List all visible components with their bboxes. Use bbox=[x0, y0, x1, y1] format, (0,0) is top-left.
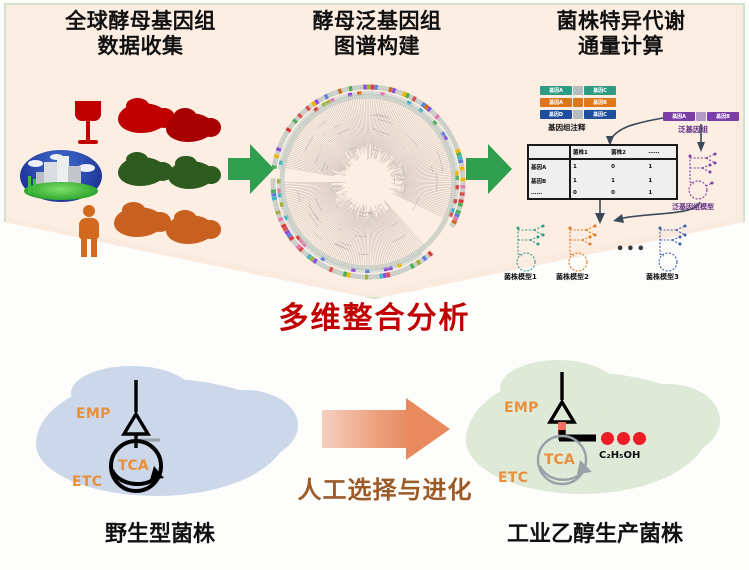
tree-svg bbox=[268, 82, 468, 282]
matrix-col-2: 菌株2 bbox=[609, 146, 646, 159]
wild-type-strain-label: 野生型菌株 bbox=[20, 516, 300, 548]
strain-model-3-label: 菌株模型3 bbox=[646, 272, 679, 282]
wildtype-emp-label: EMP bbox=[76, 406, 111, 422]
matrix-row1-gene: 基因B bbox=[529, 174, 570, 188]
industrial-tca-label: TCA bbox=[544, 452, 575, 468]
matrix-row1-v1: 1 bbox=[609, 174, 646, 188]
ethanol-molecule-3 bbox=[633, 432, 646, 445]
table-row: 基因A 1 0 1 bbox=[529, 159, 676, 174]
wildtype-etc-label: ETC bbox=[72, 474, 102, 490]
industrial-ethanol-cell: C₂H₅OH EMP TCA ETC bbox=[466, 372, 710, 494]
figure-canvas: 全球酵母基因组 数据收集 酵母泛基因组 图谱构建 菌株特异代谢 通量计算 bbox=[0, 0, 749, 570]
wildtype-tca-label: TCA bbox=[118, 458, 149, 474]
yeast-blob-human-1 bbox=[114, 207, 164, 237]
selection-evolution-arrow-icon bbox=[322, 398, 454, 460]
circular-phylogenetic-tree bbox=[268, 82, 468, 282]
matrix-row2-gene: …… bbox=[529, 188, 570, 198]
matrix-row0-v2: 1 bbox=[646, 159, 676, 174]
yeast-blob-human-2 bbox=[166, 215, 214, 244]
matrix-row0-v1: 0 bbox=[609, 159, 646, 174]
globe-factory-icon bbox=[20, 150, 102, 202]
industrial-emp-label: EMP bbox=[504, 400, 539, 416]
matrix-row2-v1: 0 bbox=[609, 188, 646, 198]
strain3-network-svg bbox=[652, 224, 694, 272]
matrix-col-1: 菌株1 bbox=[570, 146, 609, 159]
matrix-row2-v2: 1 bbox=[646, 188, 676, 198]
matrix-row0-v0: 1 bbox=[570, 159, 609, 174]
industrial-etc-label: ETC bbox=[498, 470, 528, 486]
ethanol-molecule-1 bbox=[601, 432, 614, 445]
table-row: …… 0 0 1 bbox=[529, 188, 676, 198]
strain1-network-svg bbox=[510, 224, 552, 272]
matrix-row1-v0: 1 bbox=[570, 174, 609, 188]
yeast-source-cluster bbox=[18, 95, 228, 265]
strain-model-2-network bbox=[562, 224, 604, 270]
yeast-blob-wine-2 bbox=[166, 113, 214, 142]
center-title: 多维整合分析 bbox=[0, 293, 749, 337]
yeast-blob-env-2 bbox=[168, 161, 214, 189]
matrix-col-3: …… bbox=[646, 146, 676, 159]
wild-type-cell: EMP TCA ETC bbox=[36, 378, 288, 496]
flux-pipeline: 基因A 基因C 基因A 基因B 基因D 基因C 基因组注释 基因A 基因B 泛基… bbox=[500, 84, 749, 284]
strain-model-3-network bbox=[652, 224, 694, 270]
ethanol-molecule-2 bbox=[617, 432, 630, 445]
matrix-row1-v2: 1 bbox=[646, 174, 676, 188]
pangenome-model-network bbox=[682, 152, 724, 198]
yeast-blob-env-1 bbox=[118, 157, 166, 186]
ethanol-formula-label: C₂H₅OH bbox=[599, 450, 640, 461]
pangenome-network-svg bbox=[682, 152, 724, 200]
person-icon bbox=[77, 205, 101, 257]
gene-presence-matrix: 菌株1 菌株2 …… 基因A 1 0 1 基因B 1 1 bbox=[527, 144, 678, 200]
heading-pangenome-map: 酵母泛基因组 图谱构建 bbox=[262, 9, 492, 59]
strain2-network-svg bbox=[562, 224, 604, 272]
strain-model-1-network bbox=[510, 224, 552, 270]
strain-models-ellipsis: ••• bbox=[616, 242, 647, 257]
heading-global-collection: 全球酵母基因组 数据收集 bbox=[18, 9, 263, 59]
strain-model-2-label: 菌株模型2 bbox=[556, 272, 589, 282]
pangenome-model-label: 泛基因组模型 bbox=[672, 202, 714, 212]
heading-flux-calculation: 菌株特异代谢 通量计算 bbox=[500, 9, 742, 59]
matrix-col-0 bbox=[529, 146, 570, 159]
matrix-row2-v0: 0 bbox=[570, 188, 609, 198]
industrial-strain-label: 工业乙醇生产菌株 bbox=[450, 516, 740, 548]
table-row: 基因B 1 1 1 bbox=[529, 174, 676, 188]
wine-glass-icon bbox=[75, 101, 101, 149]
matrix-row0-gene: 基因A bbox=[529, 159, 570, 174]
strain-model-1-label: 菌株模型1 bbox=[504, 272, 537, 282]
yeast-blob-wine-1 bbox=[118, 103, 168, 133]
